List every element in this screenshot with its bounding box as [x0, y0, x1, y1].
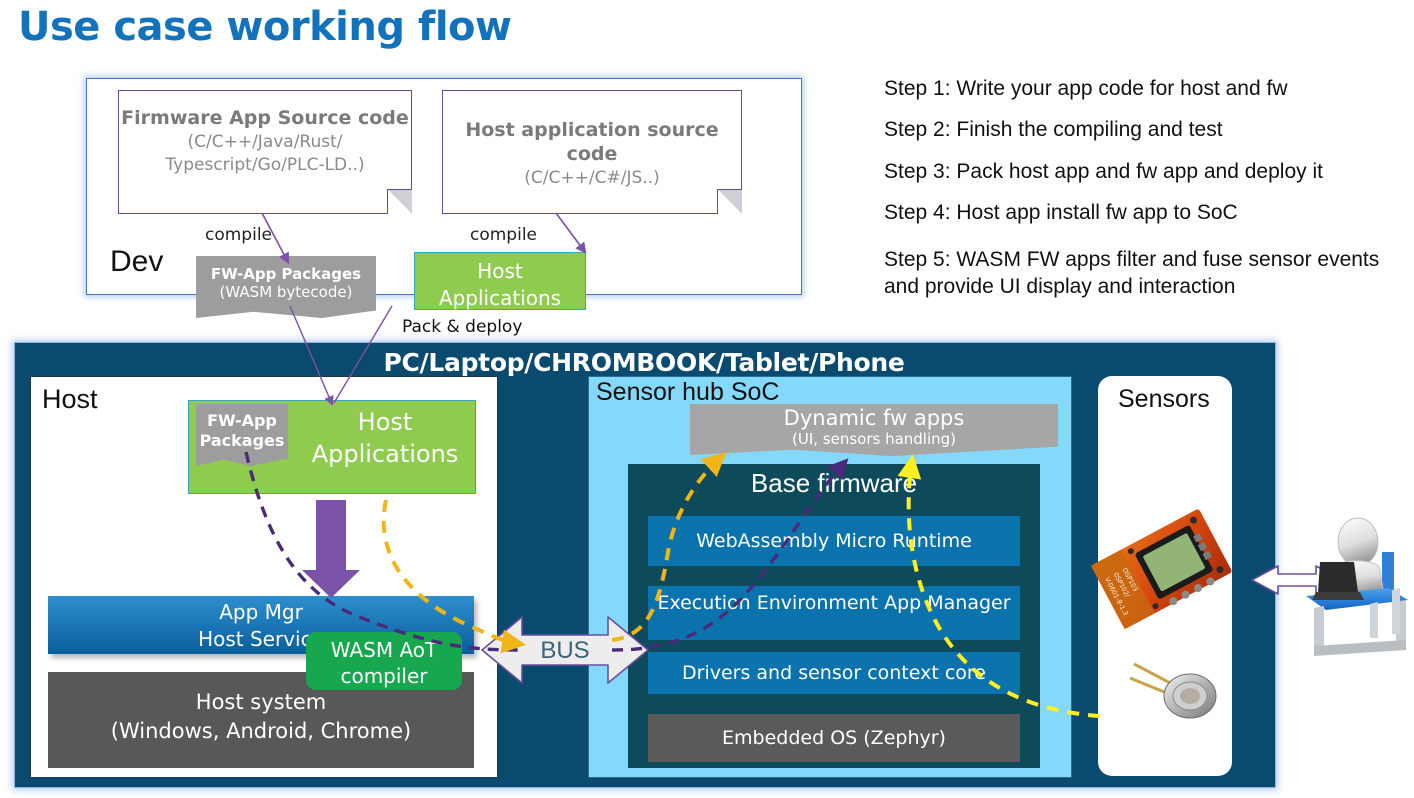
fw-app-packages-host: FW-App Packages — [196, 404, 288, 466]
base-firmware-label: Base firmware — [628, 468, 1040, 499]
fw-app-packages-dev: FW-App Packages (WASM bytecode) — [196, 256, 376, 318]
sensor-hub-soc-label: Sensor hub SoC — [596, 378, 779, 407]
step-item: Step 4: Host app install fw app to SoC — [884, 199, 1404, 226]
host-source-title: Host application source code — [443, 119, 741, 167]
host-source-sub: (C/C++/C#/JS..) — [443, 167, 741, 190]
dynamic-fw-apps-line1: Dynamic fw apps — [690, 406, 1058, 430]
host-applications-label: Host Applications — [300, 407, 470, 470]
host-label: Host — [42, 384, 98, 415]
firmware-source-sub: (C/C++/Java/Rust/ Typescript/Go/PLC-LD..… — [119, 131, 411, 177]
firmware-source-document: Firmware App Source code (C/C++/Java/Rus… — [118, 90, 412, 214]
image-user-at-laptop — [1306, 518, 1408, 656]
dynamic-fw-apps-banner: Dynamic fw apps (UI, sensors handling) — [690, 404, 1058, 456]
page-fold-icon — [717, 189, 742, 214]
firmware-layer-exec-env: Execution Environment App Manager — [648, 586, 1020, 640]
firmware-layer-wamr: WebAssembly Micro Runtime — [648, 516, 1020, 566]
sensors-box — [1098, 376, 1232, 776]
host-system-label: Host system (Windows, Android, Chrome) — [48, 688, 474, 747]
compile-label-firmware: compile — [205, 225, 272, 245]
host-source-document: Host application source code (C/C++/C#/J… — [442, 90, 742, 214]
wasm-aot-compiler-box: WASM AoT compiler — [306, 632, 462, 690]
sensors-label: Sensors — [1118, 385, 1210, 414]
page-fold-icon — [387, 189, 412, 214]
pack-deploy-label: Pack & deploy — [402, 317, 522, 337]
steps-list: Step 1: Write your app code for host and… — [884, 75, 1404, 315]
compile-label-host: compile — [470, 225, 537, 245]
dev-label: Dev — [110, 245, 163, 279]
device-panel-title: PC/Laptop/CHROMBOOK/Tablet/Phone — [0, 348, 1288, 377]
step-item: Step 1: Write your app code for host and… — [884, 75, 1404, 102]
step-item: Step 2: Finish the compiling and test — [884, 116, 1404, 143]
step-item: Step 3: Pack host app and fw app and dep… — [884, 158, 1404, 185]
fw-app-packages-dev-line1: FW-App Packages — [196, 265, 376, 283]
page-title: Use case working flow — [18, 4, 511, 50]
fw-app-packages-dev-line2: (WASM bytecode) — [196, 283, 376, 301]
host-applications-dev: Host Applications — [414, 252, 586, 310]
dynamic-fw-apps-line2: (UI, sensors handling) — [690, 430, 1058, 448]
step-item: Step 5: WASM FW apps filter and fuse sen… — [884, 246, 1404, 301]
firmware-source-title: Firmware App Source code — [119, 107, 411, 131]
firmware-layer-drivers: Drivers and sensor context core — [648, 652, 1020, 694]
firmware-layer-embedded-os: Embedded OS (Zephyr) — [648, 714, 1020, 762]
